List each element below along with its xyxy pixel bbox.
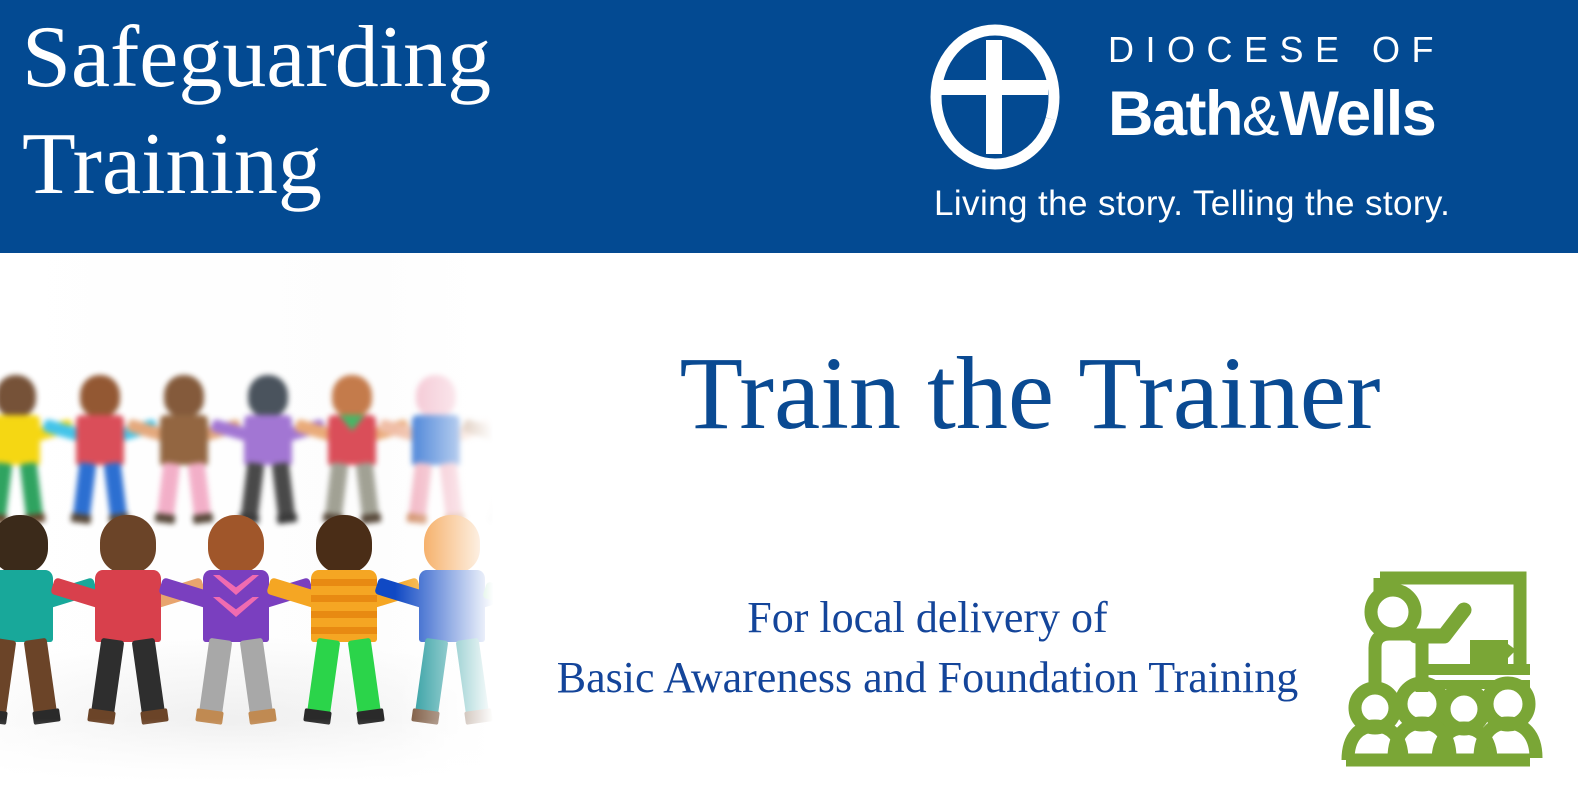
- poster-root: Safeguarding Training DIOCESE OF Bath&We…: [0, 0, 1578, 789]
- diocese-tagline: Living the story. Telling the story.: [934, 186, 1562, 221]
- classroom-training-icon: [1334, 552, 1574, 789]
- diocese-name: Bath&Wells: [1108, 68, 1562, 146]
- paper-people-photo: [0, 253, 515, 789]
- diocese-logo-text: DIOCESE OF Bath&Wells: [1108, 18, 1562, 146]
- paper-person: [58, 375, 142, 525]
- photo-bottom-fade: [0, 719, 515, 789]
- paper-person: [142, 375, 226, 525]
- paper-person: [290, 515, 398, 727]
- paper-person: [0, 515, 74, 727]
- paper-person: [226, 375, 310, 525]
- course-subtitle: For local delivery of Basic Awareness an…: [495, 588, 1360, 709]
- ampersand-glyph: &: [1242, 84, 1279, 147]
- header-banner: Safeguarding Training DIOCESE OF Bath&We…: [0, 0, 1578, 253]
- subtitle-line-1: For local delivery of: [495, 588, 1360, 648]
- subtitle-line-2: Basic Awareness and Foundation Training: [495, 648, 1360, 708]
- paper-person: [74, 515, 182, 727]
- diocese-of-label: DIOCESE OF: [1108, 18, 1562, 68]
- photo-right-fade: [395, 253, 515, 789]
- paper-person: [310, 375, 394, 525]
- page-title: Safeguarding Training: [22, 4, 662, 219]
- church-cross-emblem-icon: [922, 24, 1068, 170]
- paper-person: [0, 375, 58, 525]
- course-headline: Train the Trainer: [560, 338, 1500, 450]
- diocese-logo: DIOCESE OF Bath&Wells Living the story. …: [922, 18, 1562, 238]
- diocese-name-bath: Bath: [1108, 79, 1242, 149]
- diocese-name-wells: Wells: [1279, 79, 1435, 149]
- paper-person: [182, 515, 290, 727]
